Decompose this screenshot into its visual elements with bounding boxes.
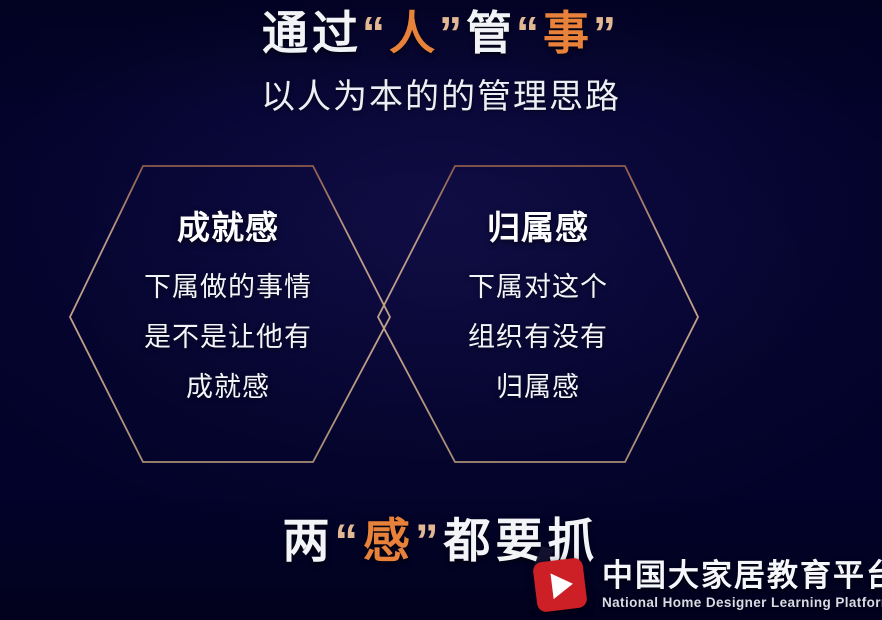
hexagon-left-heading: 成就感 (78, 206, 378, 250)
hexagon-left-line-3: 成就感 (78, 362, 378, 412)
title-accent-ren: 人 (389, 7, 439, 59)
presentation-slide: 通过“人”管“事” 以人为本的的管理思路 成就感 下属做的事情 是不是让他有 成… (0, 0, 882, 620)
bottom-part-1: 两 (283, 514, 335, 567)
bottom-accent-gan: 感 (363, 514, 415, 567)
brand-name-en: National Home Designer Learning Platform (602, 596, 882, 610)
title-part-2: 管 (466, 7, 516, 59)
bottom-quote-open: “ (335, 514, 364, 567)
title-quote-open-1: “ (362, 7, 389, 59)
hexagon-left-content: 成就感 下属做的事情 是不是让他有 成就感 (78, 206, 378, 412)
title-quote-open-2: “ (516, 7, 543, 59)
hexagon-right-heading: 归属感 (388, 206, 688, 250)
slide-title: 通过“人”管“事” (0, 2, 882, 64)
hexagon-right-content: 归属感 下属对这个 组织有没有 归属感 (388, 206, 688, 412)
brand-name-cn: 中国大家居教育平台 (602, 560, 882, 591)
brand-logo: 中国大家居教育平台 National Home Designer Learnin… (530, 552, 880, 618)
hexagon-right-line-1: 下属对这个 (388, 262, 688, 312)
title-part-1: 通过 (262, 7, 362, 59)
play-button-icon (530, 556, 592, 614)
hexagon-right-line-3: 归属感 (388, 362, 688, 412)
slide-subtitle: 以人为本的的管理思路 (0, 72, 882, 122)
title-quote-close-2: ” (593, 7, 620, 59)
title-quote-close-1: ” (439, 7, 466, 59)
logo-play-triangle (550, 571, 574, 599)
hexagon-left-line-2: 是不是让他有 (78, 312, 378, 362)
title-accent-shi: 事 (543, 7, 593, 59)
hexagon-left-line-1: 下属做的事情 (78, 262, 378, 312)
bottom-quote-close: ” (415, 514, 444, 567)
brand-logo-text: 中国大家居教育平台 National Home Designer Learnin… (602, 560, 882, 610)
hexagon-right-line-2: 组织有没有 (388, 312, 688, 362)
